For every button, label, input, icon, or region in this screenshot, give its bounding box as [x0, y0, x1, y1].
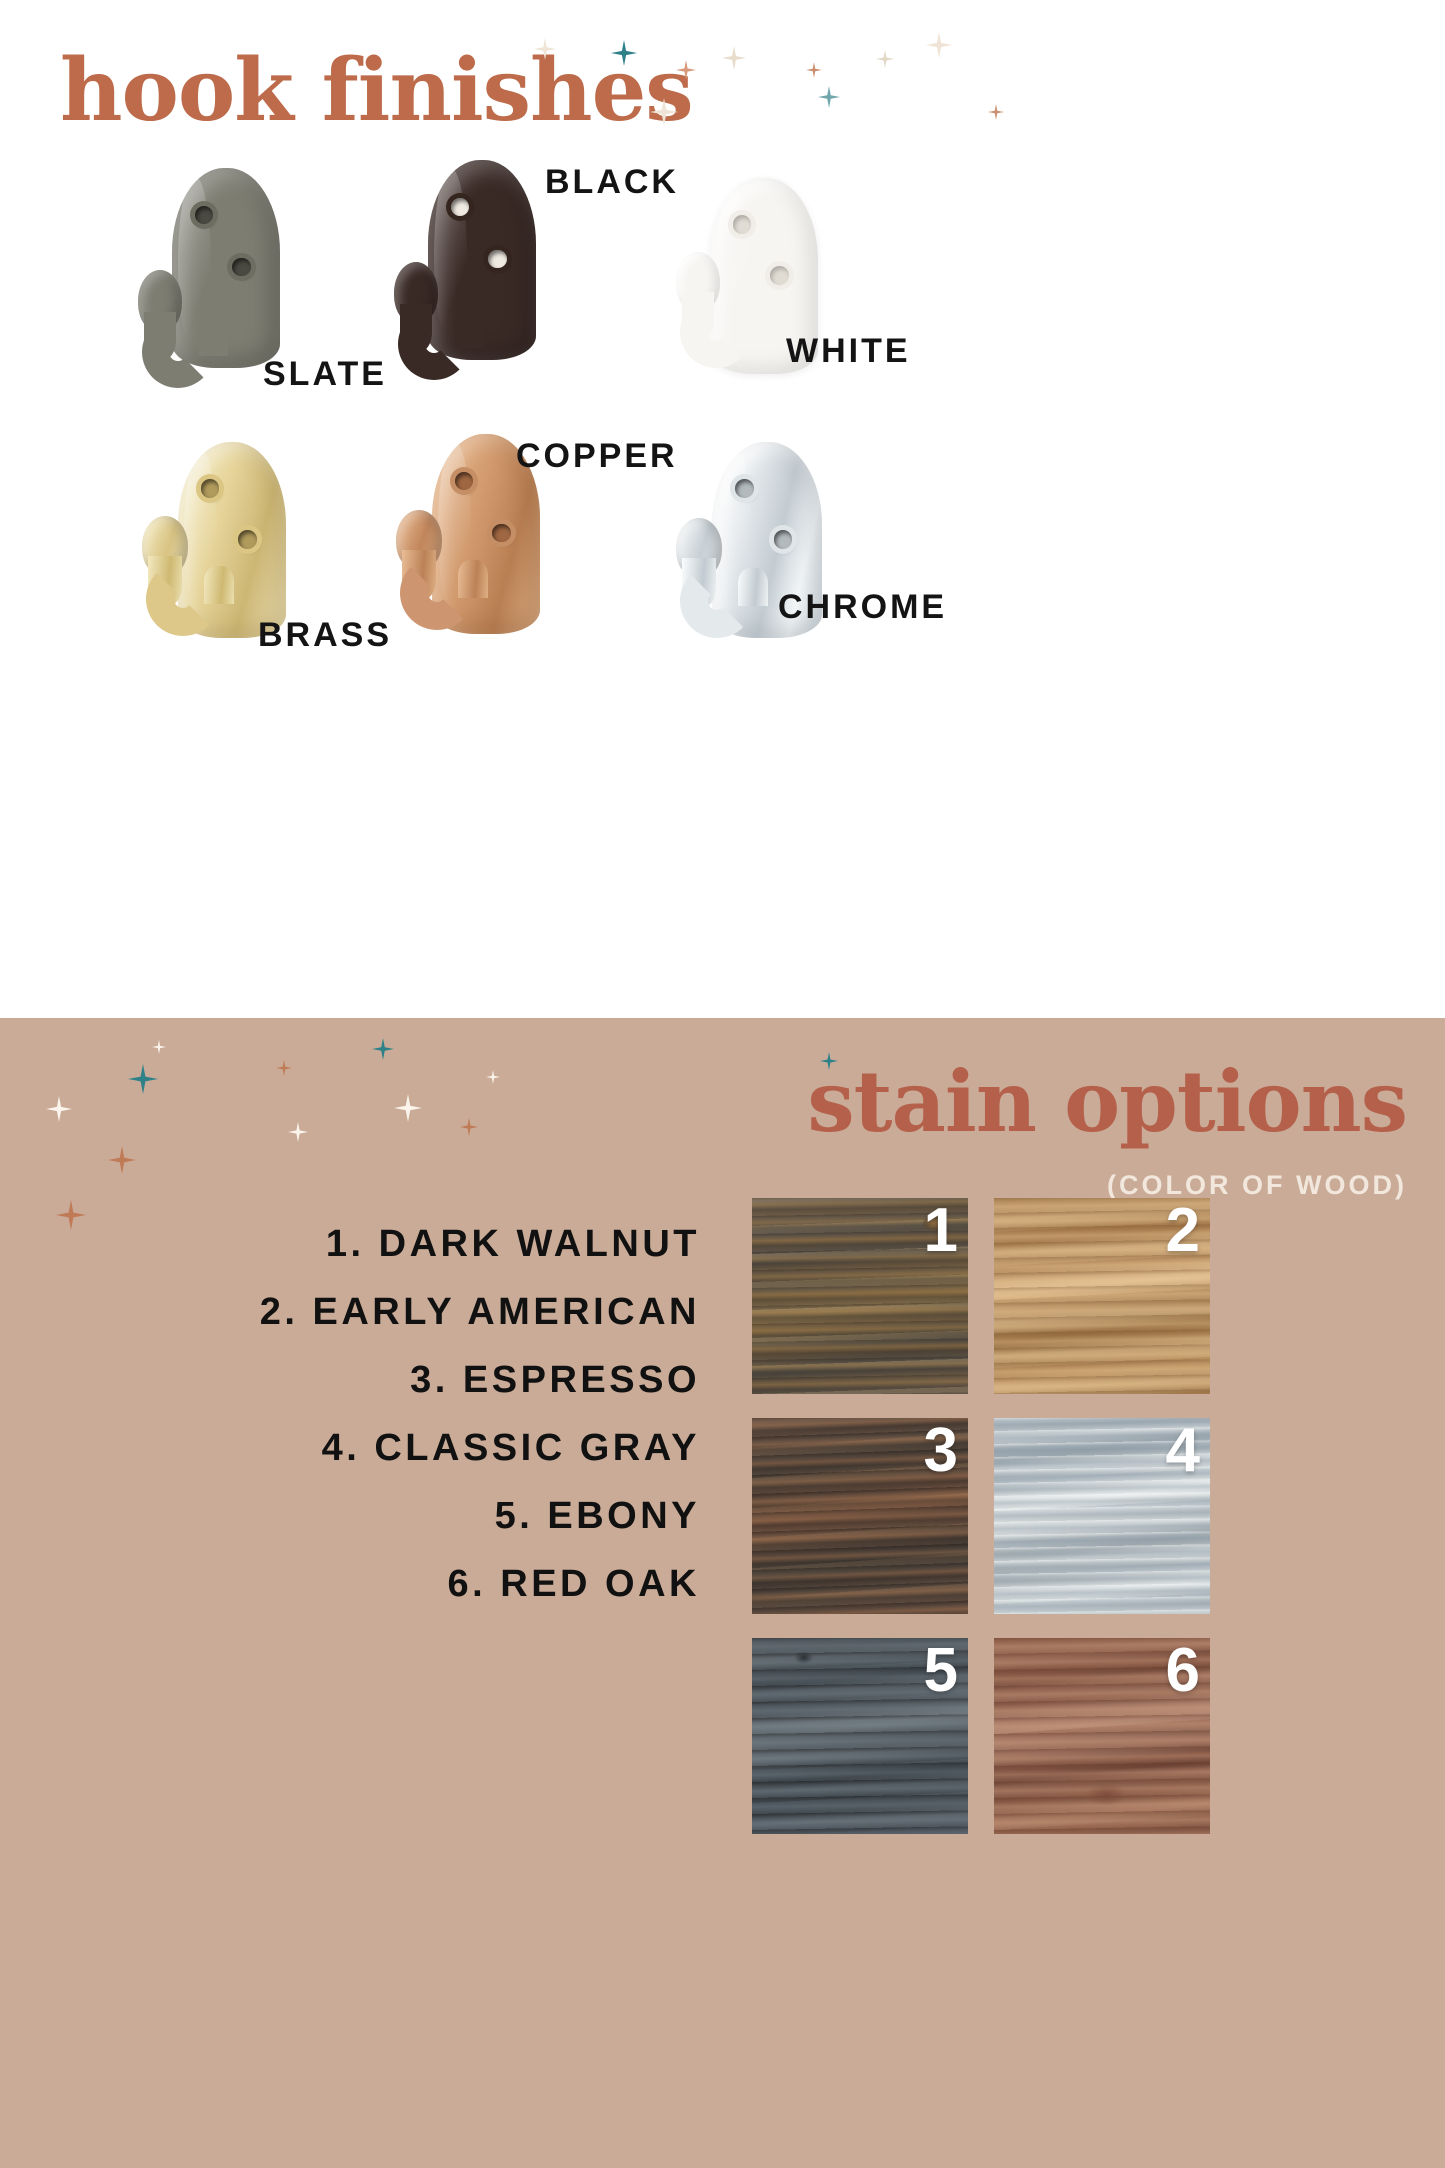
- hook-tip: [458, 560, 488, 598]
- sparkle-icon: [394, 1094, 422, 1122]
- sparkle-icon: [46, 1096, 72, 1122]
- sparkle-icon: [276, 1060, 292, 1076]
- hook-chrome-arm: [674, 518, 784, 642]
- sparkle-icon: [988, 104, 1004, 120]
- sparkle-icon: [926, 32, 952, 58]
- stain-swatch-espresso[interactable]: 3: [752, 1418, 968, 1614]
- sparkle-icon: [534, 38, 556, 60]
- sparkle-icon: [611, 40, 637, 66]
- sparkle-icon: [460, 1118, 478, 1136]
- hook-tip: [204, 566, 234, 604]
- sparkle-icon: [818, 86, 840, 108]
- stain-swatch-dark-walnut[interactable]: 1: [752, 1198, 968, 1394]
- swatch-number: 5: [924, 1640, 958, 1702]
- list-item: 3. ESPRESSO: [60, 1346, 700, 1414]
- swatch-number: 1: [924, 1200, 958, 1262]
- swatch-number: 4: [1166, 1420, 1200, 1482]
- list-item: 2. EARLY AMERICAN: [60, 1278, 700, 1346]
- hook-label-chrome: CHROME: [778, 588, 947, 627]
- hook-label-brass: BRASS: [258, 616, 392, 655]
- sparkle-icon: [876, 50, 894, 68]
- stain-swatch-grid: 1 2 3 4 5 6: [752, 1198, 1210, 1834]
- sparkle-icon: [676, 60, 696, 80]
- hook-label-slate: SLATE: [263, 355, 387, 394]
- stain-options-section: stain options (COLOR OF WOOD) 1. DARK WA…: [0, 1018, 1445, 2168]
- hook-label-white: WHITE: [786, 332, 911, 371]
- swatch-number: 6: [1166, 1640, 1200, 1702]
- sparkle-icon: [108, 1146, 136, 1174]
- stain-swatch-classic-gray[interactable]: 4: [994, 1418, 1210, 1614]
- swatch-number: 2: [1166, 1200, 1200, 1262]
- sparkle-icon: [372, 1038, 394, 1060]
- hook-brass-arm: [140, 516, 250, 640]
- sparkle-icon: [128, 1064, 158, 1094]
- list-item: 5. EBONY: [60, 1482, 700, 1550]
- stain-swatch-red-oak[interactable]: 6: [994, 1638, 1210, 1834]
- sparkle-icon: [152, 1040, 166, 1054]
- hook-tip: [736, 300, 766, 336]
- hook-black-arm: [392, 262, 502, 382]
- swatch-number: 3: [924, 1420, 958, 1482]
- sparkle-icon: [288, 1122, 308, 1142]
- hook-tip: [738, 568, 768, 606]
- sparkle-icon: [806, 62, 822, 78]
- screw-hole-icon: [201, 479, 219, 497]
- hook-slate-arm: [136, 270, 246, 390]
- list-item: 6. RED OAK: [60, 1550, 700, 1618]
- hook-label-black: BLACK: [545, 163, 679, 202]
- stain-options-subtitle: (COLOR OF WOOD): [1107, 1170, 1407, 1201]
- screw-hole-icon: [735, 479, 754, 498]
- stain-swatch-early-american[interactable]: 2: [994, 1198, 1210, 1394]
- sparkle-icon: [650, 98, 678, 126]
- hook-label-copper: COPPER: [516, 437, 678, 476]
- list-item: 1. DARK WALNUT: [60, 1210, 700, 1278]
- hook-finishes-section: hook finishes SLATE BLACK: [0, 0, 1445, 1018]
- stain-options-list: 1. DARK WALNUT 2. EARLY AMERICAN 3. ESPR…: [60, 1210, 700, 1618]
- hook-tip: [454, 312, 484, 348]
- hook-copper-arm: [394, 510, 504, 634]
- sparkle-icon: [722, 46, 746, 70]
- stain-swatch-ebony[interactable]: 5: [752, 1638, 968, 1834]
- screw-hole-icon: [733, 215, 751, 233]
- sparkle-icon: [486, 1070, 500, 1084]
- stain-options-title: stain options: [807, 1060, 1407, 1144]
- hook-white-arm: [674, 252, 784, 372]
- list-item: 4. CLASSIC GRAY: [60, 1414, 700, 1482]
- page-title: hook finishes: [60, 48, 693, 134]
- hook-tip: [198, 320, 228, 356]
